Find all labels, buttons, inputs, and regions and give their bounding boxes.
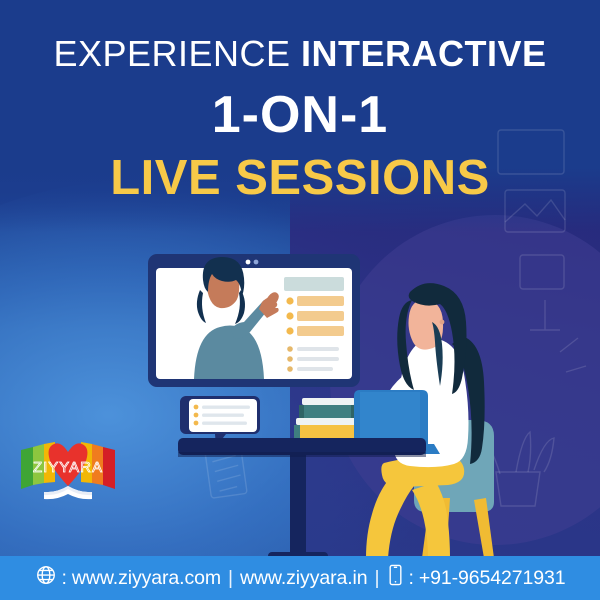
content-row-3: [297, 326, 344, 336]
footer-separator-1: |: [226, 567, 235, 590]
phone-number[interactable]: +91-9654271931: [419, 567, 566, 590]
book-teal: [299, 405, 357, 418]
footer-colon-2: :: [409, 567, 414, 590]
promo-poster: EXPERIENCE INTERACTIVE 1-ON-1 LIVE SESSI…: [0, 0, 600, 600]
content-row-1: [297, 296, 344, 306]
headline-line-1: EXPERIENCE INTERACTIVE: [0, 36, 600, 72]
headline-live-sessions: LIVE SESSIONS: [0, 154, 600, 203]
contact-footer: : www.ziyyara.com | www.ziyyara.in | : +…: [0, 556, 600, 600]
book-yellow: [294, 425, 362, 439]
footer-separator-2: |: [373, 567, 382, 590]
globe-icon: [35, 564, 57, 592]
desk-shadow: [178, 452, 426, 457]
video-call-monitor: [148, 254, 360, 387]
content-row-2: [297, 311, 344, 321]
ziyyara-logo: ZIYYARA: [16, 438, 120, 504]
header-bar: [284, 277, 344, 291]
footer-colon-1: :: [62, 567, 67, 590]
website-in-link[interactable]: www.ziyyara.in: [240, 567, 368, 590]
logo-wordmark: ZIYYARA: [33, 459, 103, 476]
website-com-link[interactable]: www.ziyyara.com: [72, 567, 221, 590]
headline-interactive: INTERACTIVE: [301, 33, 547, 74]
headline-experience: EXPERIENCE: [53, 33, 290, 74]
headline-block: EXPERIENCE INTERACTIVE 1-ON-1 LIVE SESSI…: [0, 36, 600, 203]
book-stack: [294, 398, 362, 439]
headline-one-on-one: 1-ON-1: [0, 89, 600, 141]
mobile-phone-icon: [387, 564, 404, 592]
